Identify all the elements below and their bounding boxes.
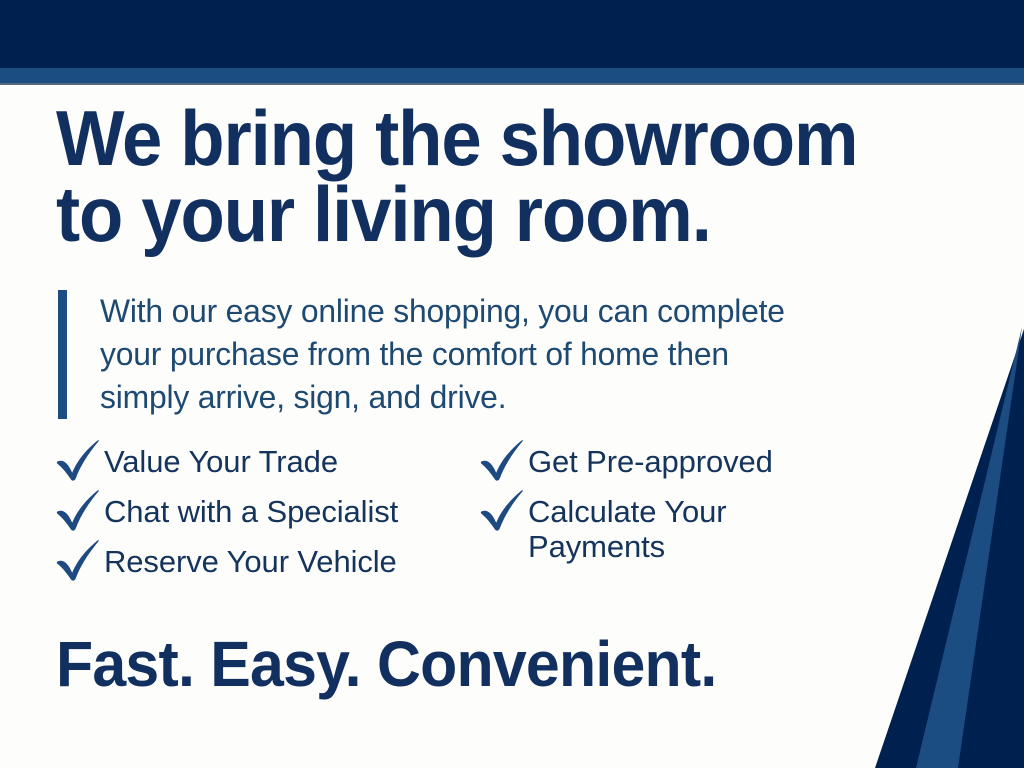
check-mark-icon bbox=[56, 486, 102, 533]
tagline: Fast. Easy. Convenient. bbox=[56, 632, 717, 696]
header-blue-band bbox=[0, 68, 1024, 83]
list-item[interactable]: Value Your Trade bbox=[56, 442, 486, 483]
list-item-label: Calculate Your Payments bbox=[528, 492, 727, 564]
feature-column-right: Get Pre-approved Calculate Your Payments bbox=[480, 442, 910, 573]
list-item-label: Reserve Your Vehicle bbox=[104, 542, 397, 579]
lede-accent-bar bbox=[58, 290, 67, 419]
header-navy-band bbox=[0, 0, 1024, 68]
banner-content: We bring the showroom to your living roo… bbox=[0, 84, 1024, 768]
list-item-label: Get Pre-approved bbox=[528, 442, 773, 479]
check-mark-icon bbox=[56, 436, 102, 483]
promo-banner: We bring the showroom to your living roo… bbox=[0, 0, 1024, 768]
list-item[interactable]: Calculate Your Payments bbox=[480, 492, 910, 564]
check-mark-icon bbox=[480, 436, 526, 483]
list-item[interactable]: Chat with a Specialist bbox=[56, 492, 486, 533]
lede-block: With our easy online shopping, you can c… bbox=[58, 290, 958, 419]
check-mark-icon bbox=[480, 486, 526, 533]
list-item-label: Value Your Trade bbox=[104, 442, 338, 479]
list-item-label: Chat with a Specialist bbox=[104, 492, 398, 529]
list-item[interactable]: Reserve Your Vehicle bbox=[56, 542, 486, 583]
feature-column-left: Value Your Trade Chat with a Specialist bbox=[56, 442, 486, 592]
lede-paragraph: With our easy online shopping, you can c… bbox=[100, 290, 785, 419]
page-title: We bring the showroom to your living roo… bbox=[56, 100, 893, 253]
check-mark-icon bbox=[56, 536, 102, 583]
list-item[interactable]: Get Pre-approved bbox=[480, 442, 910, 483]
